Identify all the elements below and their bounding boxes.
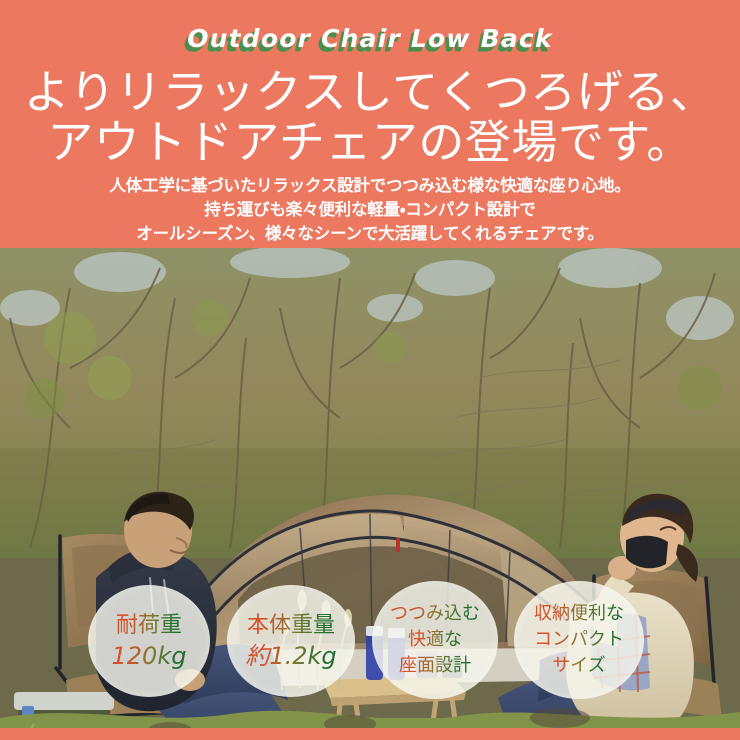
product-eyebrow-title: Outdoor Chair Low Back [187,22,553,56]
badge-compact-size-line-3: サイズ [552,653,605,679]
badge-product-weight: 本体重量 約1.2kg [227,585,355,697]
badge-load-capacity-line-1: 耐荷重 [116,611,182,641]
badge-product-weight-line-2: 約1.2kg [245,641,336,671]
subcopy-line-1: 人体工学に基づいたリラックス設計でつつみ込む様な快適な座り心地。 [0,172,740,196]
badge-comfort-seat-line-1: つつみ込む [390,601,480,627]
badge-load-capacity-line-2: 120kg [112,641,187,671]
badge-comfort-seat-line-3: 座面設計 [399,653,471,679]
subcopy-line-3: オールシーズン、様々なシーンで大活躍してくれるチェアです。 [0,220,740,244]
headline-line-2: アウトドアチェアの登場です。 [0,106,740,172]
badge-load-capacity: 耐荷重 120kg [88,585,210,697]
footer-strip [0,728,740,740]
header-band: Outdoor Chair Low Back よりリラックスしてくつろげる、 ア… [0,0,740,248]
badge-compact-size: 収納便利な コンパクト サイズ [514,581,644,699]
badge-compact-size-line-1: 収納便利な [534,601,624,627]
badge-compact-size-line-2: コンパクト [534,627,624,653]
subcopy-line-2: 持ち運びも楽々便利な軽量・コンパクト設計で [0,196,740,220]
product-banner: Outdoor Chair Low Back よりリラックスしてくつろげる、 ア… [0,0,740,740]
badge-product-weight-line-1: 本体重量 [247,611,335,641]
badge-comfort-seat-line-2: 快適な [408,627,462,653]
badge-comfort-seat: つつみ込む 快適な 座面設計 [372,581,498,699]
